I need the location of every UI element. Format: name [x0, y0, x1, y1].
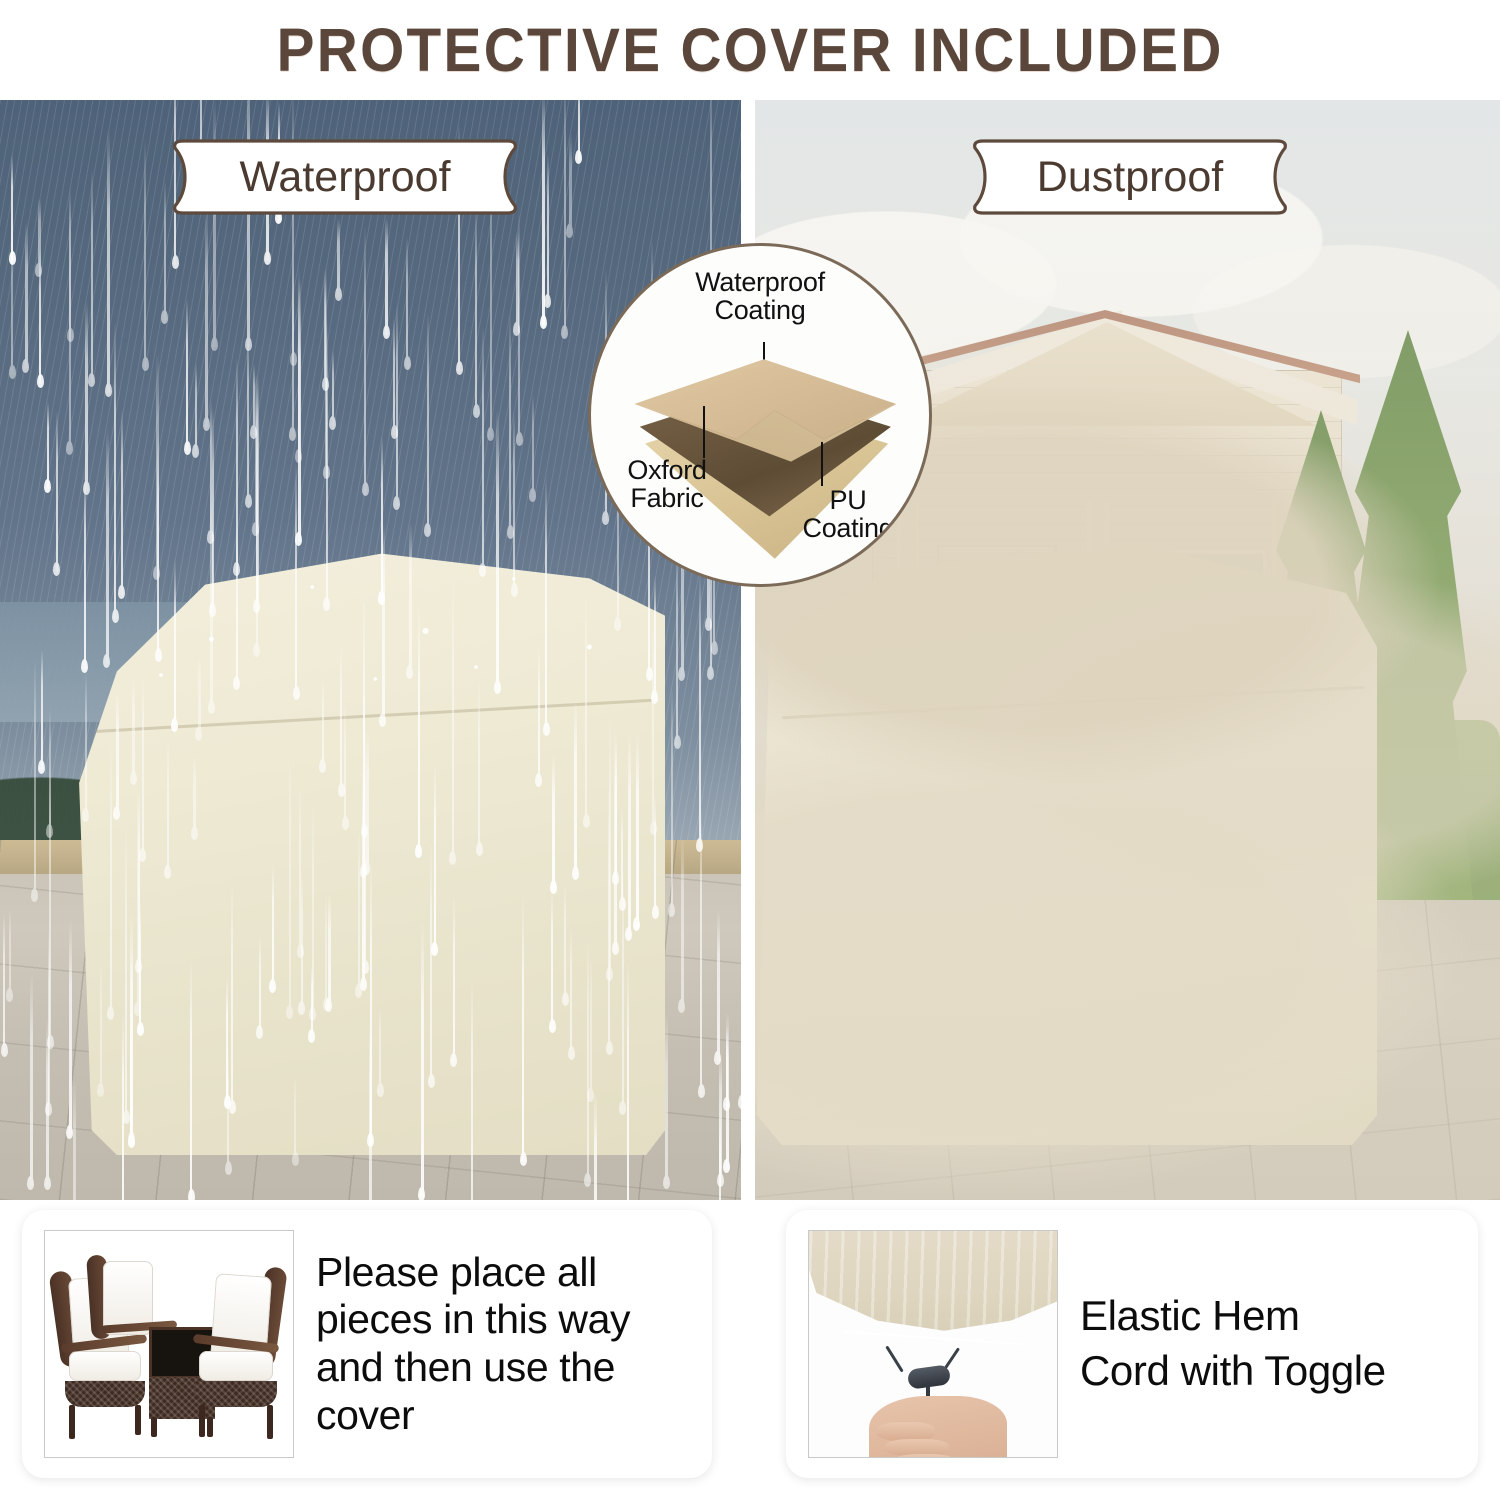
seat-cushion — [69, 1351, 141, 1381]
table-leg — [151, 1417, 157, 1437]
infographic-page: PROTECTIVE COVER INCLUDED — [0, 0, 1500, 1500]
chair-leg — [199, 1405, 205, 1437]
seat-cushion — [199, 1351, 273, 1381]
leader-line-pu — [821, 442, 823, 486]
chair-wicker-base — [195, 1381, 277, 1407]
elastic-hem-text: Elastic Hem Cord with Toggle — [1058, 1289, 1478, 1398]
finger — [894, 1454, 955, 1457]
elastic-hem-card: Elastic Hem Cord with Toggle — [786, 1210, 1478, 1478]
dustproof-banner: Dustproof — [965, 138, 1295, 216]
toggle-illustration — [809, 1231, 1057, 1457]
page-title-bar: PROTECTIVE COVER INCLUDED — [0, 0, 1500, 100]
waterproof-banner: Waterproof — [165, 138, 525, 216]
page-title: PROTECTIVE COVER INCLUDED — [277, 15, 1224, 85]
chair-leg — [135, 1405, 141, 1435]
furniture-set-illustration — [45, 1231, 293, 1457]
chair-wicker-base — [65, 1381, 145, 1407]
label-line: Coating — [630, 296, 890, 324]
chair-leg — [267, 1405, 273, 1439]
leader-line-oxford — [703, 406, 705, 458]
finger — [877, 1422, 935, 1440]
label-line: Fabric — [597, 484, 737, 512]
waterproof-coating-label: Waterproof Coating — [630, 268, 890, 324]
label-line: Oxford — [597, 456, 737, 484]
waterproof-banner-label: Waterproof — [239, 153, 451, 201]
dustproof-banner-label: Dustproof — [1037, 153, 1224, 201]
placement-instruction-card: Please place all pieces in this way and … — [22, 1210, 712, 1478]
fabric-layers-badge: Waterproof Coating Oxford Fabric PU Coat… — [588, 243, 932, 587]
hand — [869, 1396, 1008, 1457]
label-line: Waterproof — [630, 268, 890, 296]
furniture-cover-dustproof — [757, 545, 1377, 1145]
cover-seam — [782, 686, 1364, 719]
elastic-hem-text-line2: Cord with Toggle — [1080, 1344, 1464, 1399]
placement-instruction-text: Please place all pieces in this way and … — [294, 1249, 712, 1439]
table-leg — [207, 1417, 213, 1437]
oxford-fabric-label: Oxford Fabric — [597, 456, 737, 512]
finger — [885, 1439, 949, 1456]
hem-cord-toggle-photo — [808, 1230, 1058, 1458]
rattan-furniture-set-photo — [44, 1230, 294, 1458]
chair-leg — [69, 1405, 75, 1439]
label-line: Coating — [773, 514, 923, 542]
hem-stitching — [844, 1331, 1022, 1345]
elastic-cord-left — [886, 1345, 904, 1372]
label-line: PU — [773, 486, 923, 514]
pu-coating-label: PU Coating — [773, 486, 923, 542]
elastic-hem-text-line1: Elastic Hem — [1080, 1289, 1464, 1344]
